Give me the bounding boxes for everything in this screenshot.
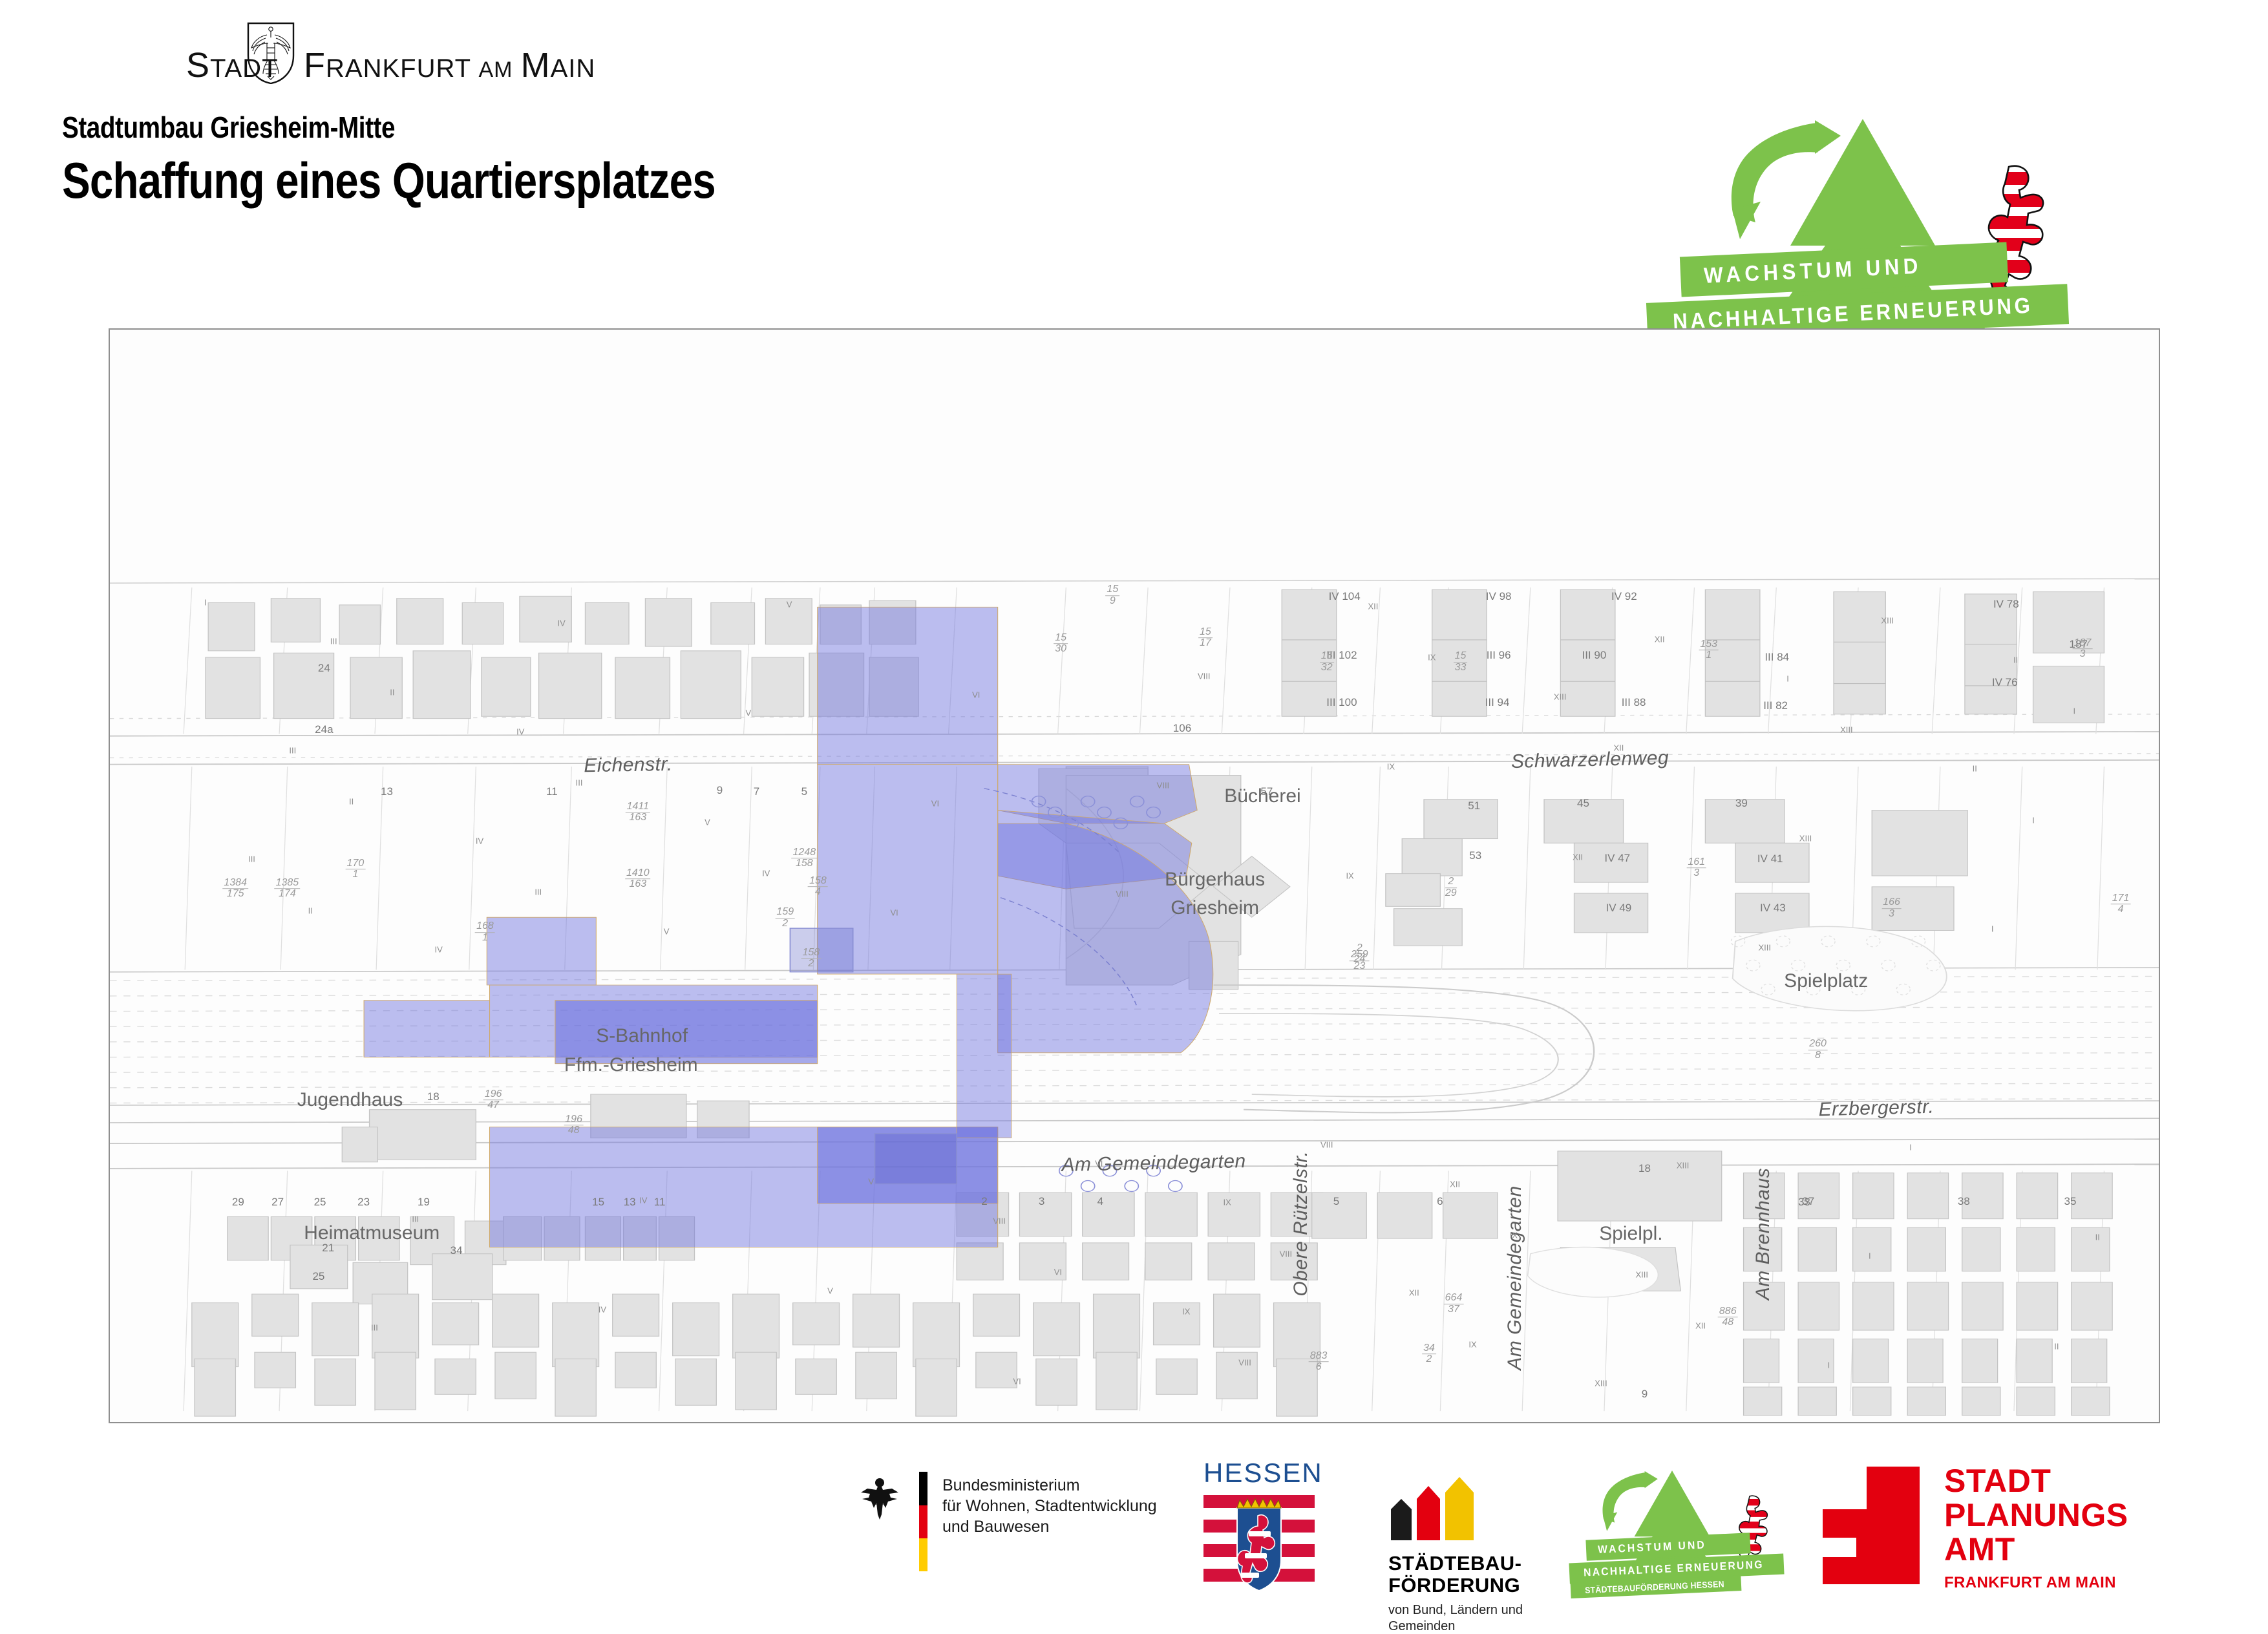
map-house-number: III 96 — [1487, 649, 1511, 662]
map-storey-mark: VI — [1095, 1158, 1103, 1168]
map-storey-mark: IX — [1468, 1339, 1476, 1349]
map-house-number: 24a — [315, 723, 333, 736]
map-storey-mark: V — [664, 926, 670, 936]
map-street-label: Eichenstr. — [584, 754, 673, 777]
map-parcel-number: 342 — [1422, 1343, 1436, 1365]
map-storey-mark: XII — [1573, 853, 1583, 862]
map-house-number: 29 — [232, 1196, 244, 1209]
map-poi-label: Ffm.-Griesheim — [564, 1054, 698, 1076]
stadtplanungsamt-mark-icon — [1823, 1467, 1920, 1584]
map-parcel-number: 25923 — [1350, 950, 1370, 971]
map-storey-mark: I — [1869, 1251, 1871, 1261]
page-subtitle: Stadtumbau Griesheim-Mitte — [62, 110, 715, 145]
map-storey-mark: III — [330, 637, 337, 646]
german-flag-bar-icon — [919, 1472, 927, 1571]
map-house-number: 19 — [418, 1196, 430, 1209]
map-house-number: 33 — [1798, 1196, 1810, 1209]
bmwsb-line1: Bundesministerium — [942, 1475, 1157, 1496]
three-houses-icon — [1388, 1476, 1480, 1540]
map-storey-mark: II — [1973, 764, 1977, 774]
map-house-number: 4 — [1097, 1195, 1103, 1208]
map-storey-mark: XII — [1613, 743, 1624, 753]
map-house-number: 53 — [1469, 849, 1481, 862]
title-block: Stadtumbau Griesheim-Mitte Schaffung ein… — [62, 110, 840, 210]
map-parcel-number: 19648 — [564, 1114, 584, 1136]
map-parcel-number: 1873 — [2073, 638, 2093, 660]
map-storey-mark: I — [2073, 706, 2076, 716]
map-house-number: 45 — [1577, 797, 1589, 810]
staedtebau-line1: STÄDTEBAU- — [1388, 1553, 1523, 1575]
city-logo: SStadtTADT FRANKFURT AM MAIN — [90, 31, 517, 83]
map-storey-mark: VIII — [1116, 889, 1129, 899]
map-house-number: 25 — [314, 1196, 326, 1209]
staedtebau-sub: von Bund, Ländern und Gemeinden — [1388, 1602, 1523, 1634]
map-storey-mark: XIII — [1595, 1379, 1607, 1388]
map-house-number: 7 — [754, 785, 759, 798]
staedtebaufoerderung-logo: STÄDTEBAU- FÖRDERUNG von Bund, Ländern u… — [1388, 1476, 1523, 1634]
map-house-number: 13 — [624, 1196, 636, 1209]
spa-line3: AMT — [1944, 1533, 2128, 1567]
map-house-number: 11 — [654, 1196, 666, 1209]
map-parcel-number: 1531 — [1699, 639, 1719, 661]
map-storey-mark: IV — [516, 727, 524, 737]
staedtebau-line2: FÖRDERUNG — [1388, 1575, 1523, 1597]
map-house-number: 57 — [1260, 785, 1273, 798]
spa-line2: PLANUNGS — [1944, 1498, 2128, 1533]
map-storey-mark: III — [576, 778, 583, 788]
map-storey-mark: III — [535, 887, 542, 897]
map-storey-mark: IX — [1346, 871, 1353, 880]
map-parcel-number: 1592 — [775, 907, 795, 929]
map-storey-mark: VIII — [1238, 1358, 1251, 1368]
map-parcel-number: 1517 — [1198, 627, 1213, 649]
map-house-number: 106 — [1173, 722, 1191, 735]
map-house-number: 24 — [318, 662, 330, 675]
map-house-number: IV 78 — [1993, 598, 2019, 611]
map-storey-mark: IV — [435, 945, 443, 955]
map-house-number: 35 — [2064, 1195, 2077, 1208]
spa-line1: STADT — [1944, 1464, 2128, 1498]
program-logo-footer: WACHSTUM UND NACHHALTIGE ERNEUERUNG STÄD… — [1577, 1467, 1855, 1596]
map-poi-label: Bürgerhaus — [1165, 869, 1265, 891]
map-storey-mark: XIII — [1881, 616, 1894, 626]
map-parcel-number: 229 — [1445, 876, 1457, 898]
map-parcel-number: 1532 — [1320, 651, 1334, 673]
map-storey-mark: XII — [1655, 634, 1665, 644]
map-storey-mark: IV — [639, 1196, 647, 1205]
map-storey-mark: III — [412, 1214, 419, 1224]
map-poi-label: S-Bahnhof — [596, 1025, 688, 1047]
map-parcel-number: 1613 — [1686, 857, 1706, 879]
bundesadler-icon — [860, 1476, 900, 1522]
map-poi-label: Spielpl. — [1599, 1223, 1662, 1245]
map-house-number: 25 — [312, 1270, 324, 1283]
map-house-number: 39 — [1735, 797, 1748, 810]
map-poi-label: Heimatmuseum — [304, 1222, 440, 1244]
bmwsb-line2: für Wohnen, Stadtentwicklung — [942, 1496, 1157, 1516]
map-house-number: III 84 — [1765, 651, 1789, 664]
map-storey-mark: IX — [1223, 1198, 1231, 1207]
map-house-number: 9 — [1642, 1388, 1648, 1401]
map-storey-mark: I — [1828, 1360, 1830, 1370]
map-house-number: IV 76 — [1992, 676, 2018, 689]
site-map[interactable]: Eichenstr.SchwarzerlenwegErzbergerstr.Am… — [109, 328, 2160, 1423]
map-house-number: IV 47 — [1604, 852, 1630, 865]
map-storey-mark: III — [289, 745, 296, 755]
map-storey-mark: III — [371, 1323, 378, 1333]
map-storey-mark: II — [308, 906, 313, 915]
map-house-number: IV 43 — [1760, 902, 1786, 915]
map-storey-mark: XIII — [1840, 725, 1853, 734]
map-parcel-number: 19647 — [483, 1089, 503, 1111]
map-house-number: 34 — [450, 1244, 463, 1257]
map-parcel-number: 8836 — [1309, 1351, 1329, 1373]
map-house-number: III 100 — [1326, 696, 1357, 709]
map-house-number: IV 41 — [1757, 853, 1783, 865]
map-parcel-number: 2608 — [1808, 1039, 1828, 1061]
map-storey-mark: I — [1786, 674, 1789, 683]
map-parcel-number: 1663 — [1881, 897, 1902, 919]
bmwsb-line3: und Bauwesen — [942, 1516, 1157, 1537]
map-storey-mark: II — [2054, 1342, 2059, 1352]
map-poi-label: Spielplatz — [1784, 970, 1868, 992]
map-storey-mark: IV — [762, 869, 770, 878]
map-parcel-number: 1681 — [475, 922, 495, 944]
map-storey-mark: V — [827, 1286, 833, 1296]
map-storey-mark: IV — [599, 1304, 606, 1314]
staedtebau-text: STÄDTEBAU- FÖRDERUNG — [1388, 1553, 1523, 1597]
page-title: Schaffung eines Quartiersplatzes — [62, 151, 715, 210]
map-street-label: Obere Rützelstr. — [1290, 1151, 1312, 1296]
spa-sub: FRANKFURT AM MAIN — [1944, 1575, 2128, 1591]
map-house-number: 27 — [271, 1196, 284, 1209]
hessen-coat-of-arms-icon — [1203, 1492, 1315, 1596]
map-street-label: Erzbergerstr. — [1819, 1096, 1935, 1121]
hessen-wordmark: HESSEN — [1203, 1458, 1315, 1489]
map-storey-mark: IX — [1510, 1231, 1518, 1240]
map-parcel-number: 1530 — [1054, 633, 1068, 655]
map-house-number: 3 — [1039, 1195, 1044, 1208]
map-house-number: 23 — [357, 1196, 370, 1209]
map-storey-mark: XIII — [1554, 692, 1567, 702]
map-storey-mark: V — [787, 599, 792, 609]
map-poi-label: Griesheim — [1171, 897, 1259, 919]
map-storey-mark: XIII — [1677, 1161, 1690, 1171]
map-storey-mark: XII — [1368, 602, 1379, 611]
map-storey-mark: IX — [1182, 1307, 1190, 1317]
map-storey-mark: XII — [1409, 1288, 1419, 1298]
map-house-number: 5 — [801, 785, 807, 798]
footer-logo-strip: Bundesministerium für Wohnen, Stadtentwi… — [0, 1458, 2268, 1603]
map-house-number: 11 — [546, 785, 558, 798]
map-parcel-number: 1248158 — [792, 847, 818, 869]
map-parcel-number: 1384175 — [222, 878, 248, 900]
map-storey-mark: II — [2013, 655, 2018, 664]
map-storey-mark: IV — [476, 836, 483, 845]
map-storey-mark: VI — [972, 690, 980, 699]
map-storey-mark: V — [868, 1177, 874, 1187]
map-street-label: Schwarzerlenweg — [1511, 747, 1669, 773]
map-storey-mark: IX — [1428, 653, 1436, 663]
map-parcel-number: 1582 — [801, 948, 821, 970]
map-storey-mark: VI — [931, 799, 939, 809]
staedtebau-sub2: Gemeinden — [1388, 1618, 1523, 1634]
map-house-number: III 82 — [1763, 699, 1788, 712]
staedtebau-sub1: von Bund, Ländern und — [1388, 1602, 1523, 1618]
map-storey-mark: VI — [1013, 1376, 1021, 1386]
map-storey-mark: XIII — [1636, 1269, 1649, 1279]
map-house-number: 15 — [592, 1196, 604, 1209]
map-storey-mark: I — [1909, 1142, 1912, 1152]
map-house-number: IV 92 — [1611, 590, 1637, 603]
map-street-label: Am Gemeindegarten — [1061, 1151, 1246, 1176]
map-parcel-number: 159 — [1105, 585, 1119, 607]
map-house-number: 51 — [1468, 800, 1480, 812]
map-storey-mark: V — [705, 818, 710, 827]
map-storey-mark: XIII — [1799, 834, 1812, 844]
map-house-number: IV 98 — [1486, 590, 1512, 603]
map-storey-mark: IV — [557, 618, 565, 628]
map-house-number: 18 — [1638, 1162, 1651, 1175]
map-parcel-number: 1411163 — [626, 801, 650, 823]
map-house-number: IV 49 — [1606, 902, 1632, 915]
map-street-label: Am Brennhaus — [1752, 1168, 1774, 1300]
map-house-number: 18 — [427, 1090, 440, 1103]
map-storey-mark: VIII — [1280, 1249, 1293, 1258]
map-parcel-number: 1584 — [808, 876, 828, 898]
map-storey-mark: VI — [1054, 1268, 1062, 1277]
map-house-number: IV 104 — [1329, 590, 1361, 603]
map-storey-mark: VIII — [1157, 780, 1170, 790]
bmwsb-text: Bundesministerium für Wohnen, Stadtentwi… — [942, 1475, 1157, 1537]
cadastral-linework — [110, 330, 2159, 1422]
map-storey-mark: I — [204, 597, 207, 607]
map-house-number: 5 — [1333, 1195, 1339, 1208]
map-storey-mark: IX — [1387, 762, 1395, 772]
map-storey-mark: III — [248, 854, 255, 864]
map-house-number: 2 — [981, 1195, 987, 1208]
map-storey-mark: VIII — [1198, 672, 1211, 681]
map-storey-mark: II — [2095, 1233, 2100, 1242]
map-storey-mark: XII — [1450, 1179, 1460, 1189]
map-storey-mark: VIII — [993, 1216, 1006, 1226]
map-parcel-number: 66437 — [1444, 1293, 1464, 1315]
map-street-label: Am Gemeindegarten — [1504, 1185, 1526, 1370]
map-parcel-number: 88648 — [1718, 1306, 1738, 1328]
map-storey-mark: XII — [1695, 1321, 1706, 1331]
map-house-number: 38 — [1958, 1195, 1970, 1208]
map-storey-mark: I — [1991, 924, 1994, 934]
map-storey-mark: I — [2032, 815, 2035, 825]
map-storey-mark: II — [349, 797, 354, 807]
stadtplanungsamt-text: STADT PLANUNGS AMT FRANKFURT AM MAIN — [1944, 1464, 2128, 1591]
map-canvas: Eichenstr.SchwarzerlenwegErzbergerstr.Am… — [110, 330, 2159, 1422]
map-storey-mark: VIII — [1320, 1140, 1333, 1150]
map-storey-mark: XIII — [1758, 942, 1771, 952]
map-parcel-number: 1533 — [1454, 651, 1468, 673]
hessen-logo: HESSEN — [1203, 1458, 1315, 1599]
map-house-number: 6 — [1437, 1195, 1443, 1208]
map-house-number: 21 — [322, 1242, 334, 1255]
map-poi-label: Jugendhaus — [297, 1089, 403, 1111]
map-house-number: III 88 — [1622, 696, 1646, 709]
map-house-number: III 90 — [1582, 649, 1606, 662]
map-storey-mark: VI — [890, 908, 898, 918]
map-house-number: 13 — [381, 785, 393, 798]
map-parcel-number: 1410163 — [625, 868, 651, 890]
city-logo-line-a: SStadtTADT — [186, 45, 279, 85]
map-house-number: 9 — [717, 784, 723, 797]
map-storey-mark: II — [390, 688, 394, 697]
map-parcel-number: 1701 — [346, 858, 366, 880]
map-parcel-number: 1714 — [2111, 893, 2131, 915]
map-storey-mark: V — [745, 708, 751, 718]
map-house-number: III 94 — [1485, 696, 1510, 709]
map-parcel-number: 1385174 — [275, 878, 301, 900]
city-logo-line-b: FRANKFURT AM MAIN — [304, 45, 595, 85]
